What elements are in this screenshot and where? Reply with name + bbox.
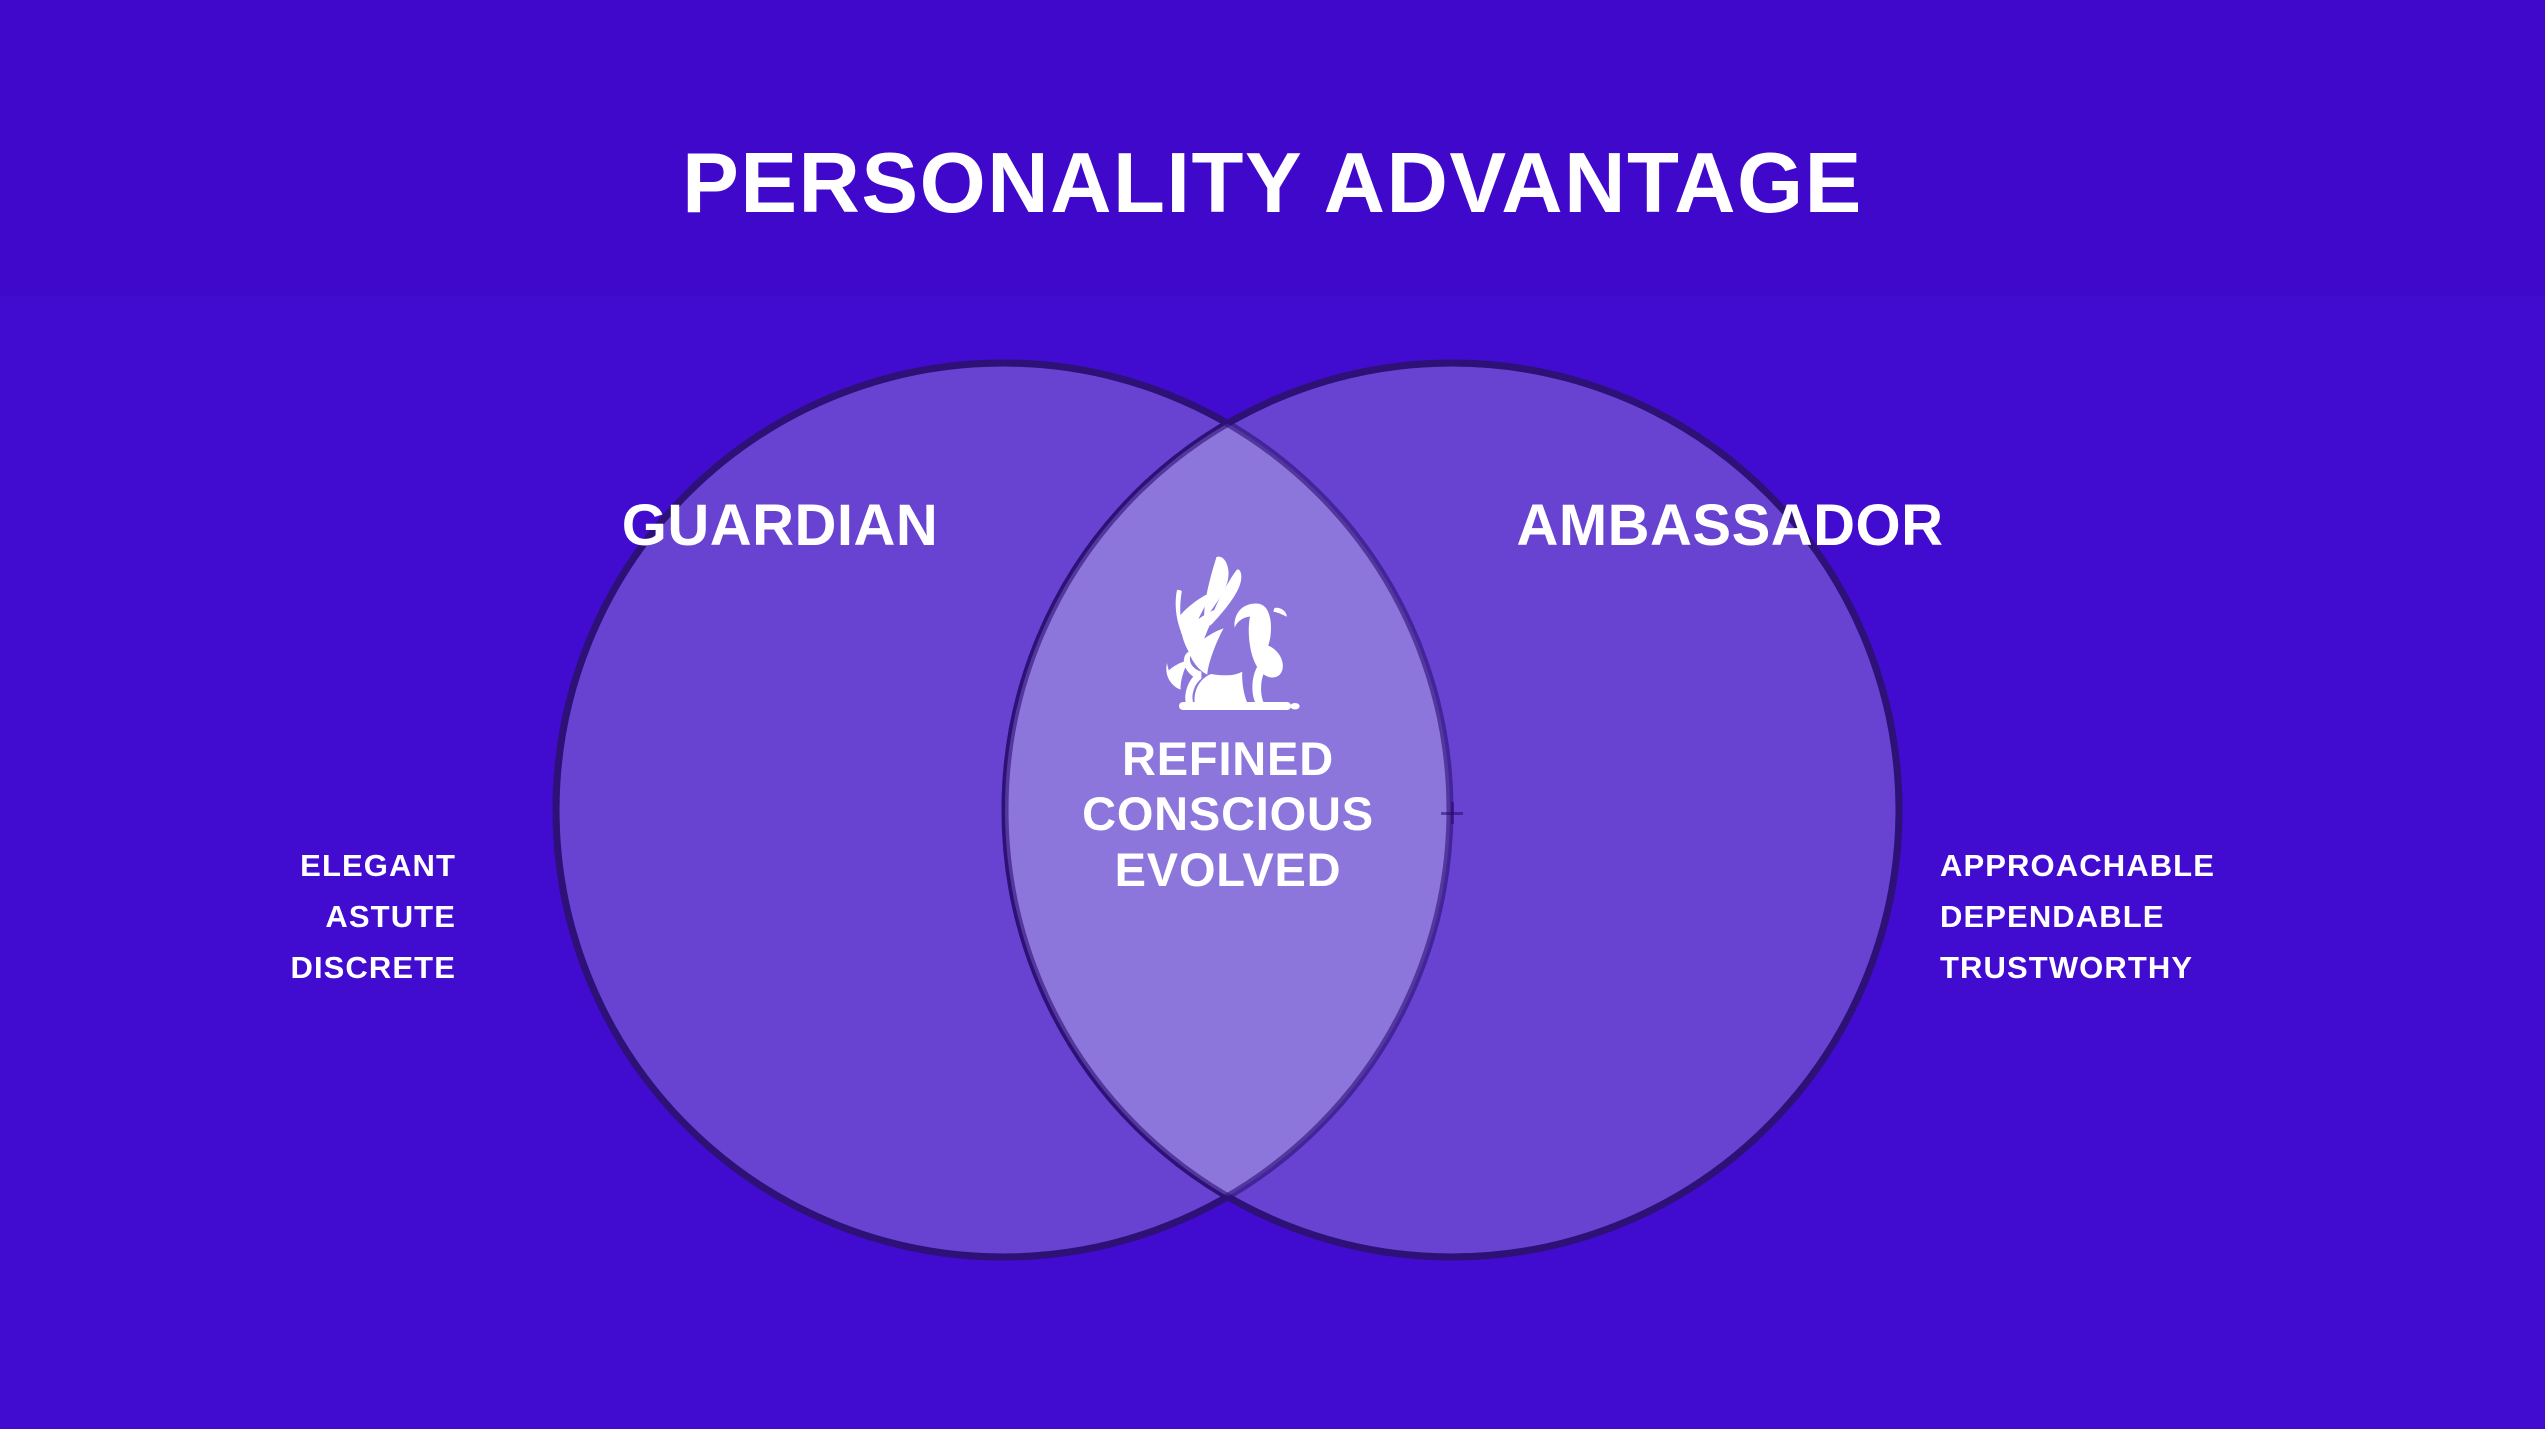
page-title: PERSONALITY ADVANTAGE <box>0 141 2545 226</box>
overlap-trait-3: EVOLVED <box>1003 842 1453 897</box>
guardian-traits-list: ELEGANT ASTUTE DISCRETE <box>0 850 456 983</box>
venn-label-guardian: GUARDIAN <box>545 497 1015 555</box>
overlap-traits-list: REFINED CONSCIOUS EVOLVED <box>1003 731 1453 897</box>
ambassador-traits-list: APPROACHABLE DEPENDABLE TRUSTWORTHY <box>1940 850 2300 983</box>
guardian-trait-1: ELEGANT <box>0 850 456 881</box>
overlap-trait-1: REFINED <box>1003 731 1453 786</box>
venn-label-ambassador: AMBASSADOR <box>1410 497 2050 555</box>
griffin-logo-icon <box>1143 555 1313 718</box>
overlap-content: REFINED CONSCIOUS EVOLVED <box>1003 555 1453 897</box>
overlap-trait-2: CONSCIOUS <box>1003 786 1453 841</box>
ambassador-trait-2: DEPENDABLE <box>1940 901 2300 932</box>
guardian-trait-3: DISCRETE <box>0 952 456 983</box>
ambassador-trait-3: TRUSTWORTHY <box>1940 952 2300 983</box>
slide-canvas: PERSONALITY ADVANTAGE GUARDIAN AMBASSADO… <box>0 0 2545 1429</box>
guardian-trait-2: ASTUTE <box>0 901 456 932</box>
ambassador-trait-1: APPROACHABLE <box>1940 850 2300 881</box>
